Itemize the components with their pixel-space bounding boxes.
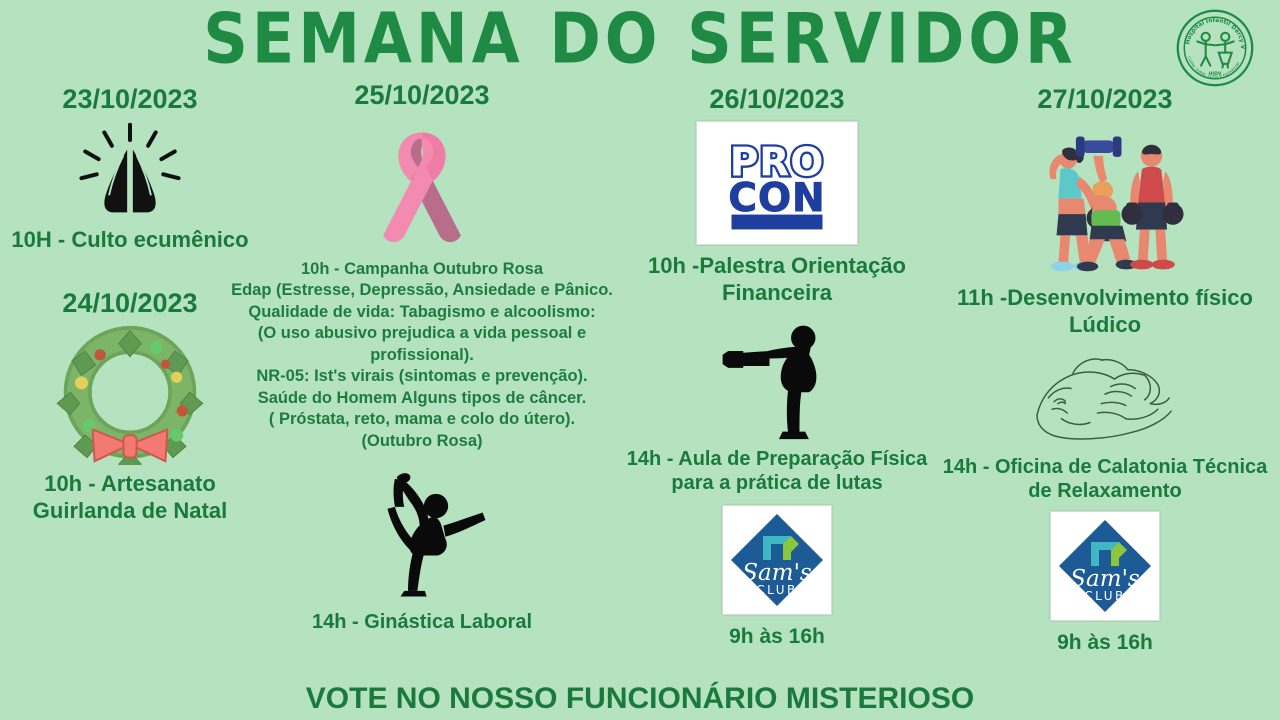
hospital-logo: Hospital Infantil Darcy Vargas cuidar, t… — [1168, 8, 1262, 88]
event-caption: 14h - Ginástica Laboral — [222, 610, 622, 634]
event-caption: 14h - Aula de Preparação Física para a p… — [612, 447, 942, 496]
club-text: CLUB — [756, 583, 797, 597]
column-3: 26/10/2023 PRO CON 10h -Palestra Orienta… — [612, 84, 942, 649]
page-title: SEMANA DO SERVIDOR — [0, 2, 1280, 75]
praying-hands-icon — [0, 121, 260, 221]
event-date: 26/10/2023 — [612, 84, 942, 115]
event-caption: 14h - Oficina de Calatonia Técnica de Re… — [930, 455, 1280, 504]
partner-block-sams-2: Sam's CLUB 9h às 16h — [930, 511, 1280, 655]
partner-hours: 9h às 16h — [930, 631, 1280, 655]
partner-block-sams-1: Sam's CLUB 9h às 16h — [612, 505, 942, 649]
event-block-calatonia: 14h - Oficina de Calatonia Técnica de Re… — [930, 345, 1280, 504]
event-block-24-10: 24/10/2023 — [0, 288, 260, 525]
desc-line: profissional). — [222, 345, 622, 366]
footer-call-to-action: VOTE NO NOSSO FUNCIONÁRIO MISTERIOSO — [0, 682, 1280, 716]
event-date: 24/10/2023 — [0, 288, 260, 319]
event-description: 10h - Campanha Outubro Rosa Edap (Estres… — [222, 259, 622, 452]
desc-line: Saúde do Homem Alguns tipos de câncer. — [222, 388, 622, 409]
column-2: 25/10/2023 10h - Campanha Outubro Rosa E… — [222, 80, 622, 634]
martial-arts-kick-icon — [612, 319, 942, 441]
desc-line: ( Próstata, reto, mama e colo do útero). — [222, 409, 622, 430]
event-date: 27/10/2023 — [930, 84, 1280, 115]
event-date: 23/10/2023 — [0, 84, 260, 115]
event-caption: 11h -Desenvolvimento físico Lúdico — [930, 285, 1280, 339]
svg-text:HIDV: HIDV — [1208, 71, 1221, 77]
desc-line: Qualidade de vida: Tabagismo e alcoolism… — [222, 302, 622, 323]
column-4: 27/10/2023 — [930, 84, 1280, 655]
desc-line: 10h - Campanha Outubro Rosa — [222, 259, 622, 280]
column-1: 23/10/2023 — [0, 84, 260, 524]
christmas-wreath-icon — [0, 325, 260, 465]
pink-ribbon-icon — [222, 117, 622, 253]
procon-logo: PRO CON — [696, 121, 858, 245]
event-date: 25/10/2023 — [222, 80, 622, 111]
club-text: CLUB — [1084, 589, 1125, 603]
desc-line: (Outubro Rosa) — [222, 431, 622, 452]
event-block-lutas: 14h - Aula de Preparação Física para a p… — [612, 319, 942, 496]
fitness-group-icon — [930, 121, 1280, 281]
desc-line: Edap (Estresse, Depressão, Ansiedade e P… — [222, 280, 622, 301]
desc-line: NR-05: Ist's virais (sintomas e prevençã… — [222, 366, 622, 387]
poster-root: SEMANA DO SERVIDOR Hospital Infantil Dar… — [0, 0, 1280, 720]
partner-hours: 9h às 16h — [612, 625, 942, 649]
procon-text-con: CON — [728, 176, 825, 221]
event-caption: 10h -Palestra Orientação Financeira — [612, 253, 942, 307]
event-block-23-10: 23/10/2023 — [0, 84, 260, 254]
sams-club-logo: Sam's CLUB — [1050, 511, 1160, 621]
event-block-ginastica: 14h - Ginástica Laboral — [222, 464, 622, 634]
event-caption: 10h - Artesanato Guirlanda de Natal — [0, 471, 260, 525]
desc-line: (O uso abusivo prejudica a vida pessoal … — [222, 323, 622, 344]
yoga-dancer-icon — [222, 464, 622, 604]
event-caption: 10H - Culto ecumênico — [0, 227, 260, 254]
calatonia-massage-icon — [930, 345, 1280, 449]
sams-club-logo: Sam's CLUB — [722, 505, 832, 615]
